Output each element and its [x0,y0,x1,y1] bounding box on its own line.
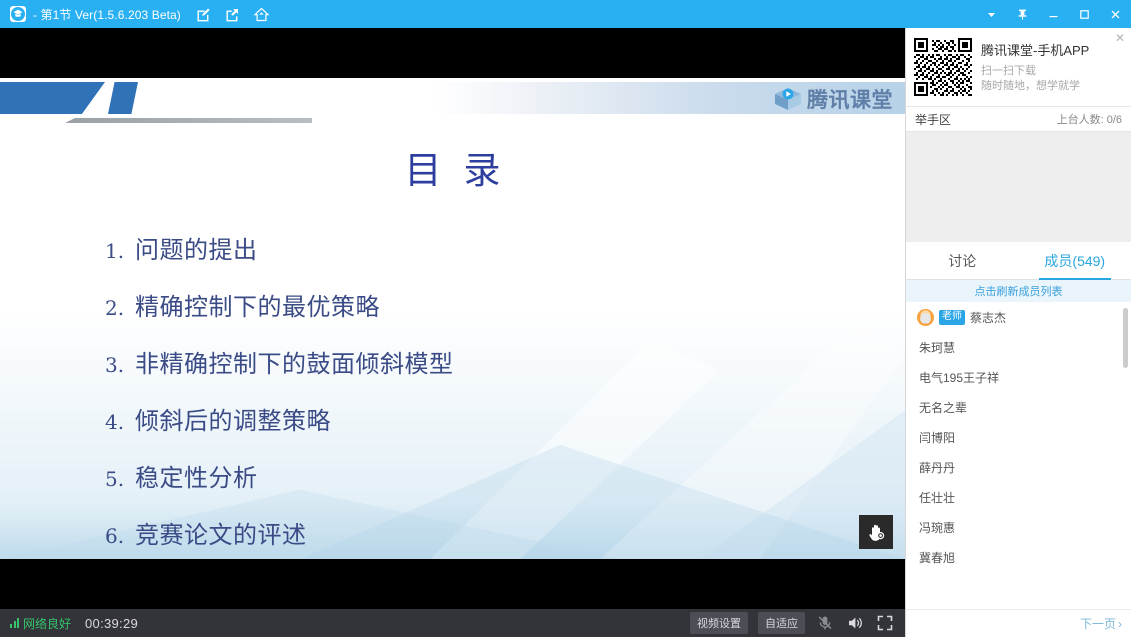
toc-item: 6. 竞赛论文的评述 [105,515,805,550]
promo-title: 腾讯课堂-手机APP [981,40,1089,59]
hand-raise-area[interactable] [906,132,1131,242]
minimize-icon[interactable] [1038,0,1069,28]
member-name: 冀春旭 [919,549,955,566]
avatar [917,309,934,326]
slide-header-band: 腾讯课堂 [0,78,905,130]
member-name: 冯琬惠 [919,519,955,536]
fit-mode-button[interactable]: 自适应 [758,612,805,634]
elapsed-time: 00:39:29 [85,616,138,631]
list-item[interactable]: 电气195王子祥 [906,362,1131,392]
toc-item-number: 1. [105,239,135,263]
toc-item: 3. 非精确控制下的鼓面倾斜模型 [105,344,805,379]
app-window: - 第1节 Ver(1.5.6.203 Beta) [0,0,1131,637]
tencent-classroom-logo-icon [10,6,26,22]
member-name: 闫博阳 [919,429,955,446]
toc-item-label: 问题的提出 [135,230,258,265]
list-item[interactable]: 老师 蔡志杰 [906,302,1131,332]
next-page-control[interactable]: 下一页 › [906,609,1131,637]
brand-logo: 腾讯课堂 [774,84,893,114]
member-list-scrollbar-thumb[interactable] [1123,308,1128,368]
next-page-label[interactable]: 下一页 [1080,615,1116,632]
signal-bars-icon [10,618,19,628]
hand-raise-header: 举手区 上台人数: 0/6 [906,107,1131,132]
list-item[interactable]: 薛丹丹 [906,452,1131,482]
member-name: 无名之辈 [919,399,967,416]
toc-item-label: 非精确控制下的鼓面倾斜模型 [135,344,454,379]
toc-item-number: 3. [105,353,135,377]
member-name: 蔡志杰 [970,309,1006,326]
toc-item-number: 2. [105,296,135,320]
member-name: 薛丹丹 [919,459,955,476]
player-bottom-bar: 网络良好 00:39:29 视频设置 自适应 [0,609,905,637]
qr-code-icon [914,38,972,96]
toc-item-label: 倾斜后的调整策略 [135,401,331,436]
compose-icon[interactable] [195,6,212,23]
home-icon[interactable] [253,6,270,23]
window-controls [976,0,1131,28]
slide-toc-list: 1. 问题的提出 2. 精确控制下的最优策略 3. 非精确控制下的鼓面倾斜模型 … [105,230,805,559]
toc-item-label: 竞赛论文的评述 [135,515,307,550]
graduation-cap-play-icon [774,86,802,112]
hand-raise-count: 上台人数: 0/6 [1057,111,1122,127]
speaker-on-icon[interactable] [845,613,865,633]
member-list[interactable]: 老师 蔡志杰 朱珂慧 电气195王子祥 无名之辈 闫博阳 薛丹丹 任壮壮 冯 [906,302,1131,609]
toc-item: 5. 稳定性分析 [105,458,805,493]
list-item[interactable]: 无名之辈 [906,392,1131,422]
fullscreen-icon[interactable] [875,613,895,633]
list-item[interactable]: 朱珂慧 [906,332,1131,362]
slide-header-rule [65,118,312,123]
member-name: 任壮壮 [919,489,955,506]
microphone-muted-icon[interactable] [815,613,835,633]
hand-raise-title: 举手区 [915,111,951,128]
toc-item-number: 5. [105,467,135,491]
player-controls: 视频设置 自适应 [690,612,895,634]
toc-item-number: 4. [105,410,135,434]
chevron-right-icon[interactable]: › [1118,617,1122,631]
toc-item-label: 稳定性分析 [135,458,258,493]
network-status-label: 网络良好 [23,615,71,632]
promo-text: 腾讯课堂-手机APP 扫一扫下载 随时随地，想学就学 [981,40,1089,94]
toc-item-number: 6. [105,524,135,548]
list-item[interactable]: 闫博阳 [906,422,1131,452]
right-side-panel: ✕ [905,28,1131,637]
video-settings-button[interactable]: 视频设置 [690,612,748,634]
panel-tabs: 讨论 成员(549) [906,242,1131,280]
brand-logo-text: 腾讯课堂 [807,84,893,114]
title-bar: - 第1节 Ver(1.5.6.203 Beta) [0,0,1131,28]
slide-title: 目录 [0,140,905,194]
member-name: 电气195王子祥 [919,369,999,386]
network-status: 网络良好 [10,615,71,632]
hand-pan-tool-icon[interactable] [859,515,893,549]
close-icon[interactable]: ✕ [1115,32,1125,44]
share-export-icon[interactable] [224,6,241,23]
list-item[interactable]: 冯琬惠 [906,512,1131,542]
mobile-app-promo: ✕ [906,28,1131,107]
promo-subtitle-2: 随时随地，想学就学 [981,79,1089,94]
promo-subtitle-1: 扫一扫下载 [981,64,1089,79]
maximize-icon[interactable] [1069,0,1100,28]
refresh-member-list-button[interactable]: 点击刷新成员列表 [906,280,1131,302]
toc-item: 1. 问题的提出 [105,230,805,265]
pin-icon[interactable] [1007,0,1038,28]
title-bar-actions [195,6,270,23]
slide-canvas[interactable]: 腾讯课堂 目录 1. 问题的提出 2. 精确控制下的最优策略 3. 非精确控制下… [0,78,905,559]
tab-discussion[interactable]: 讨论 [906,242,1019,279]
teacher-badge: 老师 [939,310,965,325]
toc-item-label: 精确控制下的最优策略 [135,287,380,322]
toc-item: 2. 精确控制下的最优策略 [105,287,805,322]
tab-members[interactable]: 成员(549) [1019,242,1131,279]
member-name: 朱珂慧 [919,339,955,356]
window-title: - 第1节 Ver(1.5.6.203 Beta) [33,6,181,23]
close-icon[interactable] [1100,0,1131,28]
list-item[interactable]: 冀春旭 [906,542,1131,572]
dropdown-menu-icon[interactable] [976,0,1007,28]
list-item[interactable]: 任壮壮 [906,482,1131,512]
presentation-stage[interactable]: 腾讯课堂 目录 1. 问题的提出 2. 精确控制下的最优策略 3. 非精确控制下… [0,28,905,609]
toc-item: 4. 倾斜后的调整策略 [105,401,805,436]
